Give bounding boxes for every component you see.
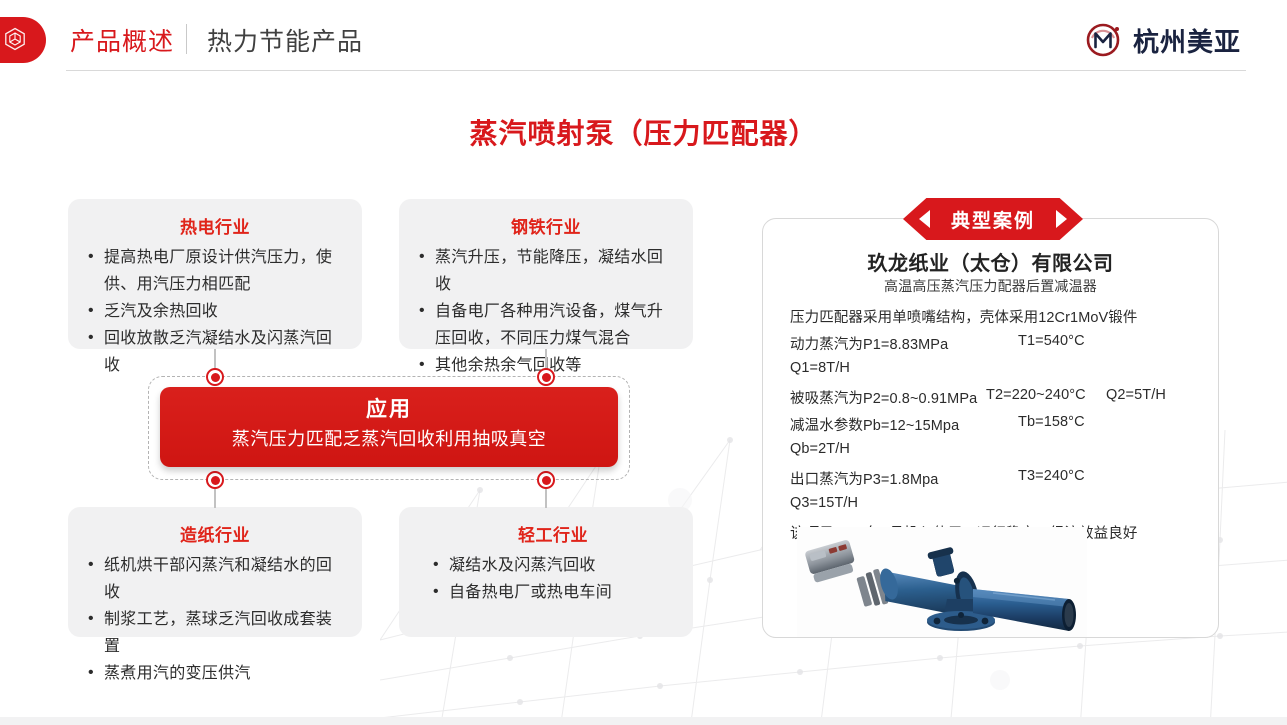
arrow-right-icon (1056, 210, 1067, 228)
page-subtitle: 热力节能产品 (207, 22, 363, 58)
spec-col1: Q3=15T/H (790, 495, 858, 511)
spec-col2: T2=220~240°C (986, 387, 1086, 403)
spec-col1: 压力匹配器采用单喷嘴结构，壳体采用12Cr1MoV锻件 (790, 310, 1138, 326)
card-title: 热电行业 (84, 213, 346, 238)
logo-text: 杭州美亚 (1133, 22, 1241, 59)
card-title: 钢铁行业 (415, 213, 677, 238)
list-item: 自备热电厂或热电车间 (429, 579, 677, 606)
list-item: 凝结水及闪蒸汽回收 (429, 552, 677, 579)
industry-card-thermal: 热电行业 提高热电厂原设计供汽压力，使供、用汽压力相匹配 乏汽及余热回收 回收放… (68, 199, 362, 349)
bottom-band (0, 717, 1287, 725)
spec-row: Q1=8T/H (790, 360, 1210, 387)
header-rule (66, 70, 1246, 71)
list-item: 乏汽及余热回收 (84, 298, 346, 325)
arrow-left-icon (919, 210, 930, 228)
meiya-m-circle-logo (1084, 20, 1124, 60)
company-logo: 杭州美亚 (1084, 17, 1241, 63)
spec-col1: 减温水参数Pb=12~15Mpa (790, 418, 959, 434)
industry-card-paper: 造纸行业 纸机烘干部闪蒸汽和凝结水的回收 制浆工艺，蒸球乏汽回收成套装置 蒸煮用… (68, 507, 362, 637)
spec-col1: Q1=8T/H (790, 360, 850, 376)
card-title: 造纸行业 (84, 521, 346, 546)
application-subtitle: 蒸汽压力匹配乏蒸汽回收利用抽吸真空 (160, 425, 618, 453)
spec-col1: Qb=2T/H (790, 441, 850, 457)
spec-row: Q3=15T/H (790, 495, 1210, 522)
list-item: 自备电厂各种用汽设备，煤气升压回收，不同压力煤气混合 (415, 298, 677, 352)
case-banner-label: 典型案例 (951, 206, 1035, 233)
product-overview-badge (0, 17, 46, 63)
spec-row: 减温水参数Pb=12~15Mpa Tb=158°C (790, 414, 1210, 441)
list-item: 纸机烘干部闪蒸汽和凝结水的回收 (84, 552, 346, 606)
spec-col2: T3=240°C (1018, 468, 1085, 484)
connector-node-bottom-left (206, 471, 224, 489)
connector-node-bottom-right (537, 471, 555, 489)
application-box: 应用 蒸汽压力匹配乏蒸汽回收利用抽吸真空 (160, 387, 618, 467)
steam-jet-pump-photo (797, 527, 1087, 637)
case-spec-list: 压力匹配器采用单喷嘴结构，壳体采用12Cr1MoV锻件 动力蒸汽为P1=8.83… (790, 306, 1210, 549)
list-item: 蒸煮用汽的变压供汽 (84, 660, 346, 687)
application-title: 应用 (160, 395, 618, 425)
case-company-name: 玖龙纸业（太仓）有限公司 (762, 247, 1219, 276)
spec-col1: 出口蒸汽为P3=1.8Mpa (790, 472, 938, 488)
card-bullet-list: 纸机烘干部闪蒸汽和凝结水的回收 制浆工艺，蒸球乏汽回收成套装置 蒸煮用汽的变压供… (84, 552, 346, 687)
case-banner: 典型案例 (903, 198, 1083, 240)
slide-canvas: 产品概述 热力节能产品 杭州美亚 蒸汽喷射泵（压力匹配器） 热电行业 提高热电厂… (0, 0, 1287, 725)
spec-col2: Tb=158°C (1018, 414, 1085, 430)
spec-col1: 动力蒸汽为P1=8.83MPa (790, 337, 948, 353)
list-item: 蒸汽升压，节能降压，凝结水回收 (415, 244, 677, 298)
page-title: 产品概述 (70, 22, 174, 58)
slide-main-title: 蒸汽喷射泵（压力匹配器） (0, 112, 1287, 152)
case-subtitle: 高温高压蒸汽压力配器后置减温器 (762, 276, 1219, 296)
spec-row: Qb=2T/H (790, 441, 1210, 468)
spec-row: 动力蒸汽为P1=8.83MPa T1=540°C (790, 333, 1210, 360)
industry-card-steel: 钢铁行业 蒸汽升压，节能降压，凝结水回收 自备电厂各种用汽设备，煤气升压回收，不… (399, 199, 693, 349)
card-title: 轻工行业 (429, 521, 677, 546)
spec-col2: T1=540°C (1018, 333, 1085, 349)
spec-col3: Q2=5T/H (1106, 387, 1166, 403)
connector-node-top-right (537, 368, 555, 386)
list-item: 制浆工艺，蒸球乏汽回收成套装置 (84, 606, 346, 660)
spec-col1: 被吸蒸汽为P2=0.8~0.91MPa (790, 391, 977, 407)
card-bullet-list: 凝结水及闪蒸汽回收 自备热电厂或热电车间 (429, 552, 677, 606)
hexagon-cube-icon (4, 27, 26, 51)
spec-row: 压力匹配器采用单喷嘴结构，壳体采用12Cr1MoV锻件 (790, 306, 1210, 333)
spec-row: 被吸蒸汽为P2=0.8~0.91MPa T2=220~240°C Q2=5T/H (790, 387, 1210, 414)
list-item: 提高热电厂原设计供汽压力，使供、用汽压力相匹配 (84, 244, 346, 298)
slide-header: 产品概述 热力节能产品 杭州美亚 (0, 0, 1287, 80)
spec-row: 出口蒸汽为P3=1.8Mpa T3=240°C (790, 468, 1210, 495)
industry-card-light: 轻工行业 凝结水及闪蒸汽回收 自备热电厂或热电车间 (399, 507, 693, 637)
header-divider (186, 24, 187, 54)
connector-node-top-left (206, 368, 224, 386)
